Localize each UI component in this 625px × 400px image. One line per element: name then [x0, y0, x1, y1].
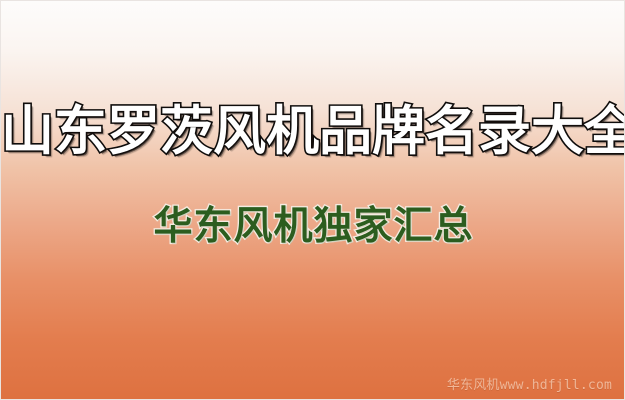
watermark-url: www.hdfjll.com — [500, 378, 612, 393]
watermark-brand: 华东风机 — [447, 378, 500, 393]
banner-subtitle: 华东风机独家汇总 — [153, 207, 473, 246]
watermark: 华东风机www.hdfjll.com — [447, 374, 612, 393]
banner-title-container: 山东罗茨风机品牌名录大全 — [1, 105, 625, 158]
banner-title: 山东罗茨风机品牌名录大全 — [1, 105, 625, 158]
banner-subtitle-container: 华东风机独家汇总 — [1, 207, 625, 246]
promo-banner: 山东罗茨风机品牌名录大全 华东风机独家汇总 华东风机www.hdfjll.com — [0, 0, 625, 400]
